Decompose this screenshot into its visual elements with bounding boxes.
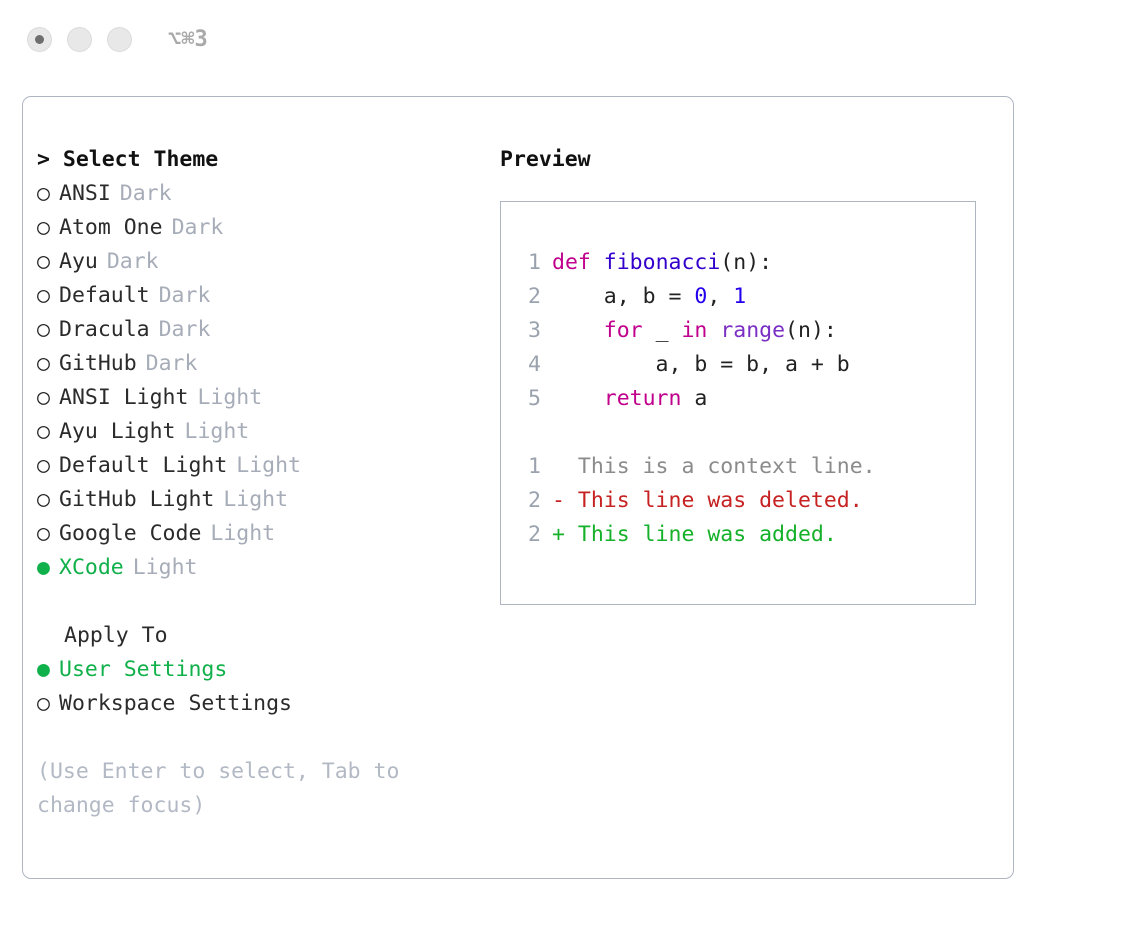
theme-option-xcode[interactable]: ●XCodeLight — [37, 551, 497, 585]
theme-option-ayu[interactable]: ○AyuDark — [37, 245, 497, 279]
theme-option-atom-one[interactable]: ○Atom OneDark — [37, 211, 497, 245]
radio-selected-icon: ● — [37, 653, 59, 687]
apply-to-option-label: User Settings — [59, 653, 227, 687]
code-token: n — [798, 318, 811, 343]
code-token: a, b = b, a + b — [552, 352, 850, 377]
theme-option-label: Ayu Light — [59, 415, 176, 449]
line-number: 2 — [511, 280, 541, 314]
radio-unselected-icon: ○ — [37, 347, 59, 381]
theme-option-label: ANSI — [59, 177, 111, 211]
radio-unselected-icon: ○ — [37, 687, 59, 721]
code-token: This is a context line. — [552, 454, 876, 479]
code-token: + This line was added. — [552, 522, 837, 547]
code-token: - This line was deleted. — [552, 488, 863, 513]
code-diff-separator — [511, 416, 969, 450]
select-theme-heading: > Select Theme — [37, 143, 497, 177]
code-line-text: return a — [552, 382, 707, 416]
theme-option-dracula[interactable]: ○DraculaDark — [37, 313, 497, 347]
code-line-text: a, b = 0, 1 — [552, 280, 746, 314]
line-number: 5 — [511, 382, 541, 416]
theme-option-tag: Light — [133, 551, 198, 585]
code-line: 2 a, b = 0, 1 — [511, 280, 969, 314]
theme-option-label: Dracula — [59, 313, 150, 347]
code-line-text: def fibonacci(n): — [552, 246, 772, 280]
preview-column: Preview 1def fibonacci(n):2 a, b = 0, 13… — [500, 143, 1000, 605]
radio-selected-icon: ● — [37, 551, 59, 585]
code-token: fibonacci — [604, 250, 721, 275]
diff-line: 1 This is a context line. — [511, 450, 969, 484]
theme-option-label: Google Code — [59, 517, 201, 551]
theme-option-tag: Light — [210, 517, 275, 551]
code-token: range — [720, 318, 785, 343]
theme-option-ansi[interactable]: ○ANSIDark — [37, 177, 497, 211]
window-control-dot-2[interactable] — [67, 27, 92, 52]
radio-unselected-icon: ○ — [37, 483, 59, 517]
code-token — [552, 386, 604, 411]
code-token: a — [681, 386, 707, 411]
code-token — [707, 318, 720, 343]
diff-line-text: + This line was added. — [552, 518, 837, 552]
theme-option-tag: Light — [223, 483, 288, 517]
radio-unselected-icon: ○ — [37, 381, 59, 415]
main-panel: > Select Theme ○ANSIDark○Atom OneDark○Ay… — [22, 96, 1014, 879]
code-token — [591, 250, 604, 275]
theme-option-ansi-light[interactable]: ○ANSI LightLight — [37, 381, 497, 415]
code-token: , — [707, 284, 733, 309]
code-line-text: a, b = b, a + b — [552, 348, 850, 382]
radio-unselected-icon: ○ — [37, 211, 59, 245]
code-line: 3 for _ in range(n): — [511, 314, 969, 348]
code-lines-container: 1def fibonacci(n):2 a, b = 0, 13 for _ i… — [511, 246, 969, 552]
radio-unselected-icon: ○ — [37, 279, 59, 313]
code-token: _ — [643, 318, 682, 343]
theme-option-tag: Light — [185, 415, 250, 449]
theme-option-github[interactable]: ○GitHubDark — [37, 347, 497, 381]
diff-line-text: - This line was deleted. — [552, 484, 863, 518]
code-token: 0 — [694, 284, 707, 309]
diff-line-text: This is a context line. — [552, 450, 876, 484]
keyboard-shortcut-label: ⌥⌘3 — [168, 27, 208, 52]
theme-option-label: ANSI Light — [59, 381, 188, 415]
preview-heading: Preview — [500, 143, 1000, 177]
section-spacer — [37, 585, 497, 619]
app-window: ⌥⌘3 > Select Theme ○ANSIDark○Atom OneDar… — [0, 0, 1140, 934]
diff-line: 2+ This line was added. — [511, 518, 969, 552]
code-token: def — [552, 250, 591, 275]
code-token: return — [604, 386, 682, 411]
theme-option-label: Ayu — [59, 245, 98, 279]
line-number: 2 — [511, 518, 541, 552]
theme-option-tag: Dark — [159, 279, 211, 313]
line-number: 1 — [511, 246, 541, 280]
theme-selection-column: > Select Theme ○ANSIDark○Atom OneDark○Ay… — [37, 143, 497, 823]
apply-to-option-workspace-settings[interactable]: ○Workspace Settings — [37, 687, 497, 721]
theme-option-default-light[interactable]: ○Default LightLight — [37, 449, 497, 483]
theme-option-label: Default Light — [59, 449, 227, 483]
radio-unselected-icon: ○ — [37, 517, 59, 551]
theme-option-tag: Dark — [107, 245, 159, 279]
theme-option-label: Default — [59, 279, 150, 313]
code-line-text: for _ in range(n): — [552, 314, 837, 348]
line-number: 2 — [511, 484, 541, 518]
code-token: a, b = — [552, 284, 694, 309]
theme-option-list: ○ANSIDark○Atom OneDark○AyuDark○DefaultDa… — [37, 177, 497, 585]
active-indicator-dot — [35, 35, 44, 44]
apply-to-option-list: ●User Settings○Workspace Settings — [37, 653, 497, 721]
window-control-dot-3[interactable] — [107, 27, 132, 52]
theme-option-tag: Dark — [159, 313, 211, 347]
code-token: ): — [746, 250, 772, 275]
code-line: 1def fibonacci(n): — [511, 246, 969, 280]
line-number: 1 — [511, 450, 541, 484]
code-token: in — [681, 318, 707, 343]
theme-option-label: XCode — [59, 551, 124, 585]
code-token — [552, 318, 604, 343]
radio-unselected-icon: ○ — [37, 415, 59, 449]
theme-option-tag: Light — [236, 449, 301, 483]
code-line: 4 a, b = b, a + b — [511, 348, 969, 382]
theme-option-github-light[interactable]: ○GitHub LightLight — [37, 483, 497, 517]
code-token: ( — [720, 250, 733, 275]
title-bar: ⌥⌘3 — [0, 0, 1140, 78]
radio-unselected-icon: ○ — [37, 245, 59, 279]
apply-to-option-user-settings[interactable]: ●User Settings — [37, 653, 497, 687]
theme-option-label: GitHub Light — [59, 483, 214, 517]
theme-option-tag: Dark — [120, 177, 172, 211]
radio-unselected-icon: ○ — [37, 313, 59, 347]
keyboard-hint-text: (Use Enter to select, Tab to change focu… — [37, 755, 447, 823]
theme-option-ayu-light[interactable]: ○Ayu LightLight — [37, 415, 497, 449]
theme-option-tag: Dark — [146, 347, 198, 381]
apply-to-option-label: Workspace Settings — [59, 687, 292, 721]
theme-option-tag: Dark — [172, 211, 224, 245]
line-number: 4 — [511, 348, 541, 382]
theme-option-tag: Light — [197, 381, 262, 415]
theme-option-google-code[interactable]: ○Google CodeLight — [37, 517, 497, 551]
code-line: 5 return a — [511, 382, 969, 416]
radio-unselected-icon: ○ — [37, 449, 59, 483]
code-token: ( — [785, 318, 798, 343]
code-token: n — [733, 250, 746, 275]
radio-unselected-icon: ○ — [37, 177, 59, 211]
code-preview-box: 1def fibonacci(n):2 a, b = 0, 13 for _ i… — [500, 201, 976, 605]
line-number: 3 — [511, 314, 541, 348]
window-controls — [27, 27, 132, 52]
theme-option-default[interactable]: ○DefaultDark — [37, 279, 497, 313]
code-token: 1 — [733, 284, 746, 309]
code-token: ): — [811, 318, 837, 343]
theme-option-label: GitHub — [59, 347, 137, 381]
apply-to-heading: Apply To — [37, 619, 497, 653]
window-control-dot-1[interactable] — [27, 27, 52, 52]
diff-line: 2- This line was deleted. — [511, 484, 969, 518]
code-token: for — [604, 318, 643, 343]
theme-option-label: Atom One — [59, 211, 163, 245]
